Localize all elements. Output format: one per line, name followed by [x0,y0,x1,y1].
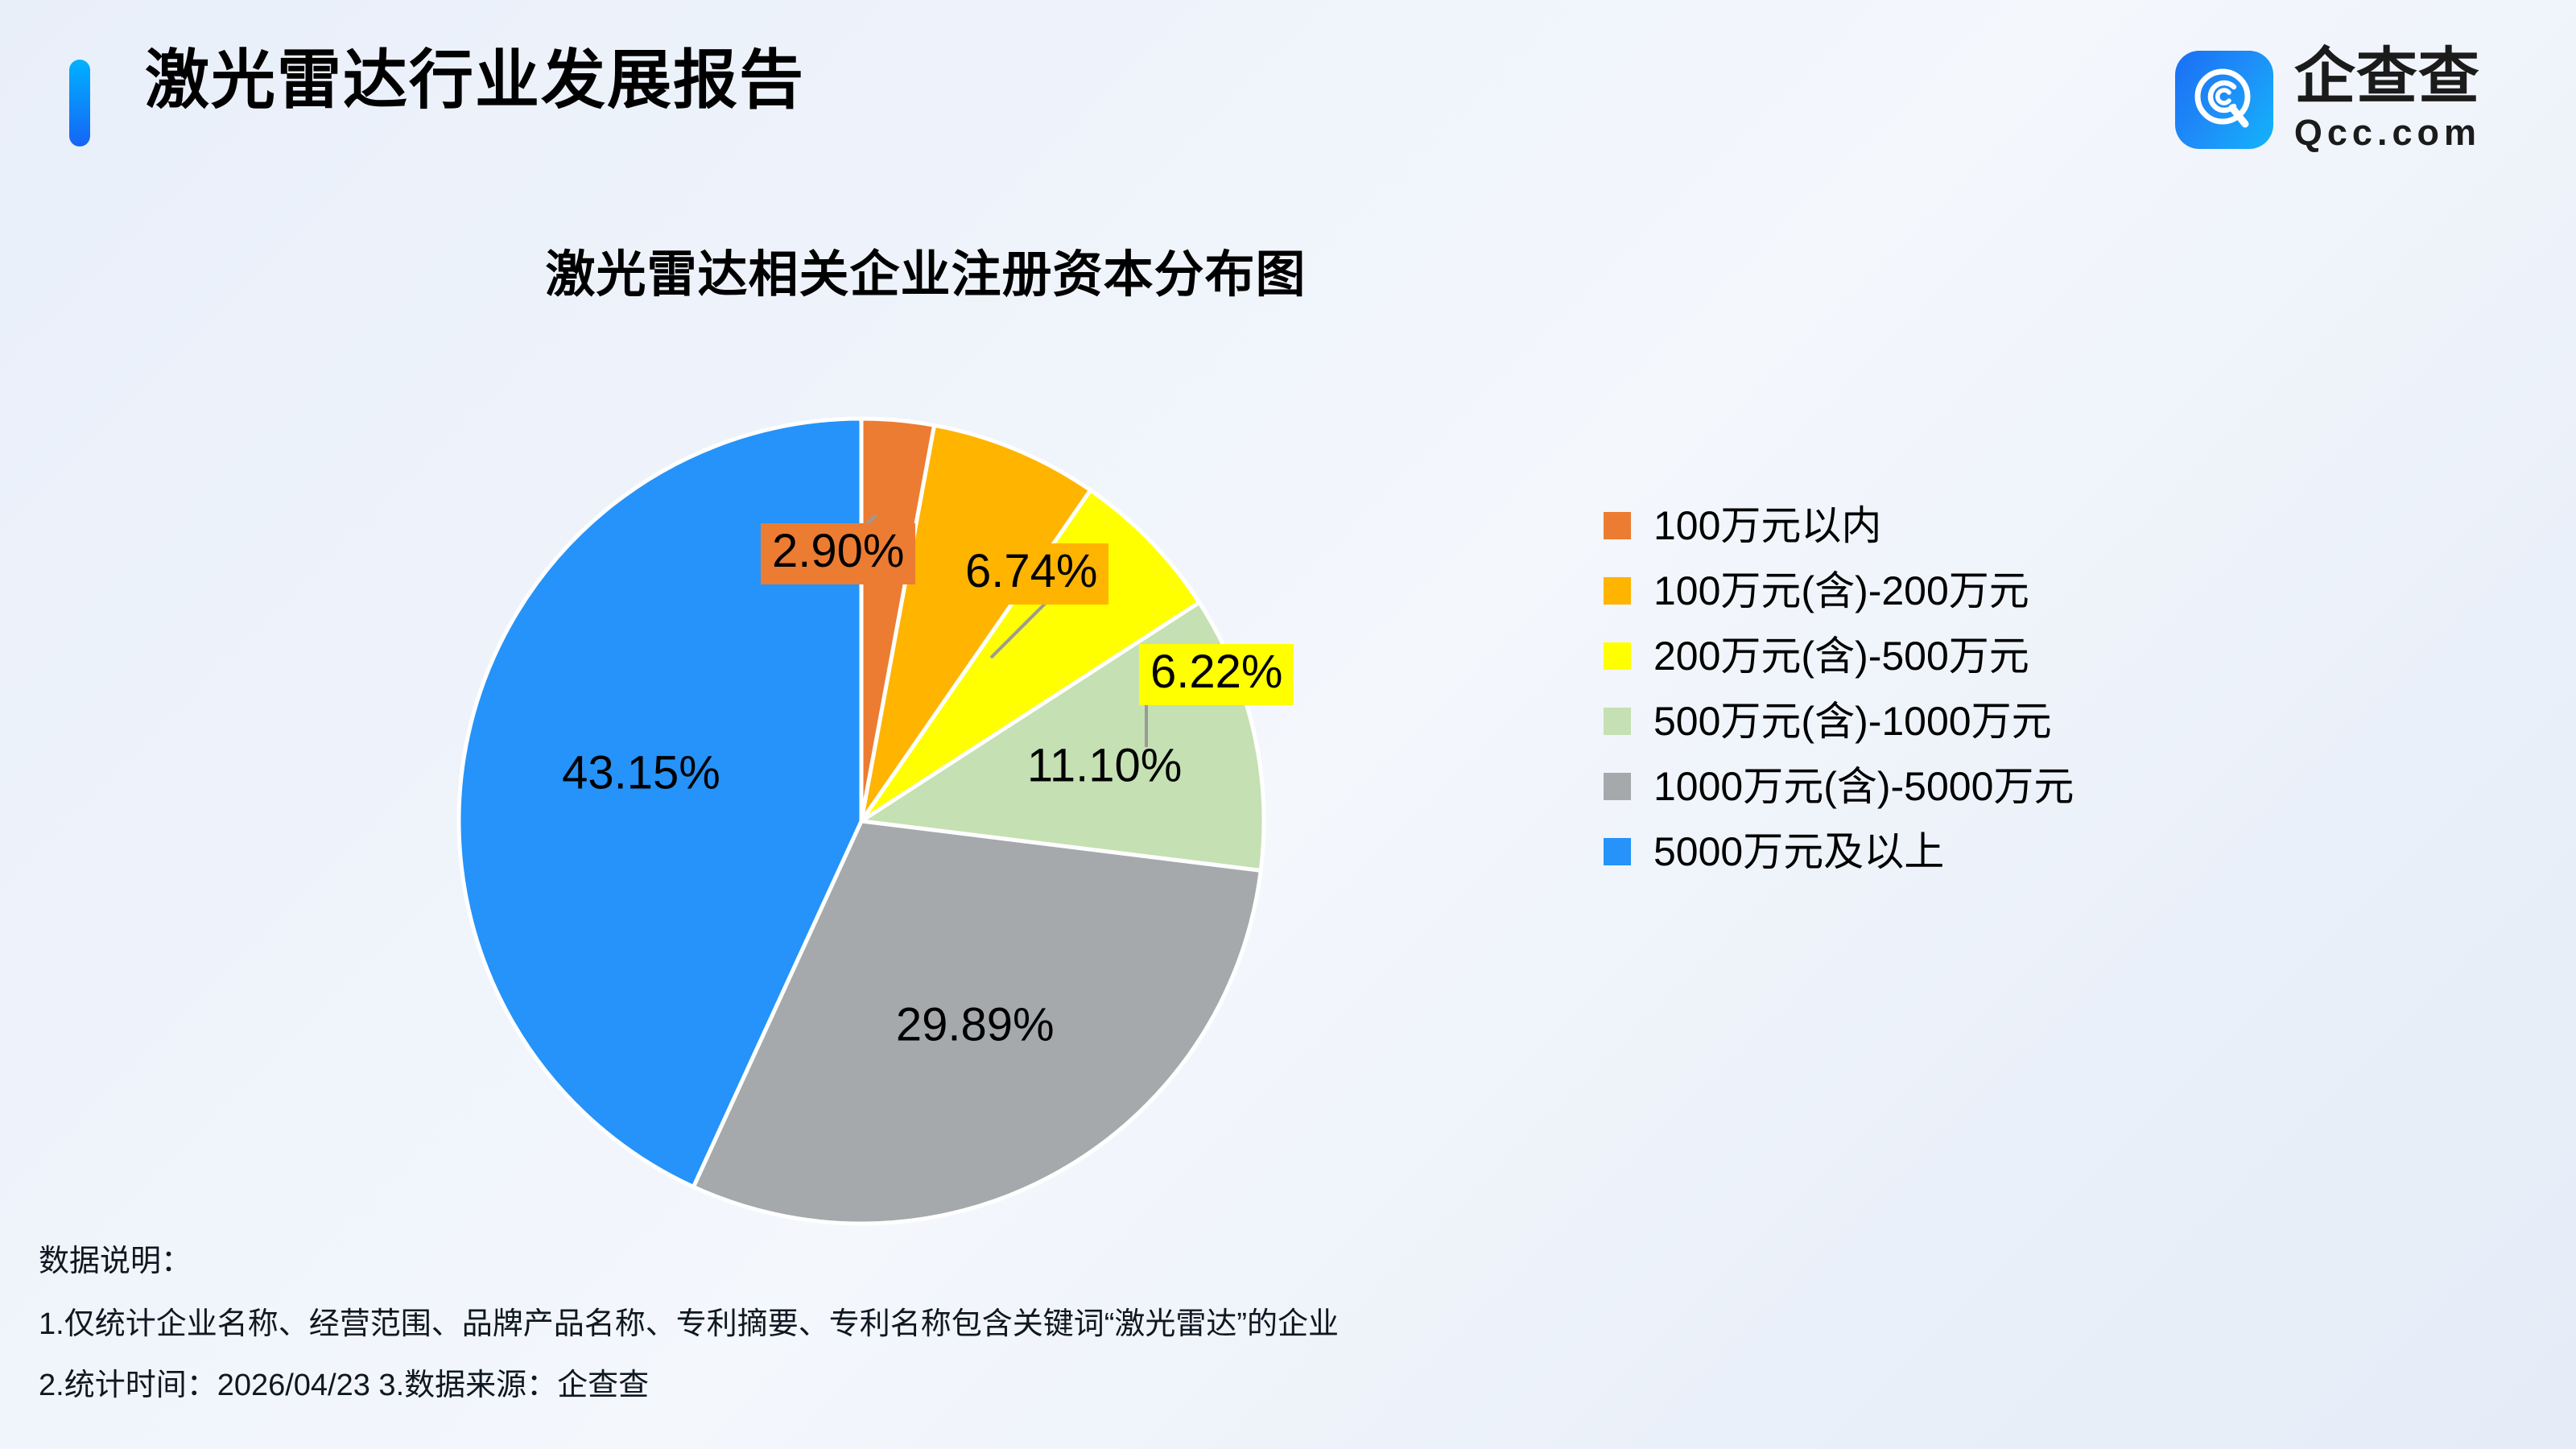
legend-swatch-icon [1604,642,1631,670]
legend-item[interactable]: 100万元以内 [1604,493,2074,558]
title-accent-bar [69,60,90,147]
pie-slice[interactable] [861,419,935,821]
pie-slices [459,419,1264,1224]
pie-slice[interactable] [693,821,1261,1224]
brand-name: 企查查 [2294,47,2480,108]
legend-label: 100万元(含)-200万元 [1653,571,2029,611]
pie-callout-label: 6.74% [954,543,1108,605]
legend-swatch-icon [1604,838,1631,865]
leader-line [991,573,1075,658]
pie-slice[interactable] [861,602,1264,870]
brand-text: 企查查 Qcc.com [2294,47,2481,153]
pie-slice[interactable] [459,419,861,1187]
pie-callout-label: 2.90% [761,523,915,584]
notes-heading: 数据说明： [39,1246,2132,1277]
brand-logo: 企查查 Qcc.com [2175,47,2481,153]
legend-label: 100万元以内 [1653,506,1881,546]
legend-item[interactable]: 200万元(含)-500万元 [1604,623,2074,688]
legend-swatch-icon [1604,512,1631,539]
chart-legend: 100万元以内100万元(含)-200万元200万元(含)-500万元500万元… [1604,493,2074,884]
pie-leader-lines [818,515,1175,747]
pie-svg [386,346,1336,1296]
legend-item[interactable]: 500万元(含)-1000万元 [1604,688,2074,753]
chart-title: 激光雷达相关企业注册资本分布图 [0,233,1851,306]
page-header: 激光雷达行业发展报告 企查查 Qcc.com [0,0,2576,201]
page-title: 激光雷达行业发展报告 [145,42,805,119]
qcc-logo-icon [2175,51,2273,149]
legend-label: 500万元(含)-1000万元 [1653,701,2052,741]
legend-item[interactable]: 5000万元及以上 [1604,819,2074,884]
pie-slice-label: 11.10% [1027,738,1182,792]
legend-label: 1000万元(含)-5000万元 [1653,766,2074,807]
legend-swatch-icon [1604,773,1631,800]
pie-slice-label: 43.15% [562,746,720,800]
pie-chart: 11.10%29.89%43.15%2.90%6.74%6.22% [0,0,2576,1449]
note-line-1: 1.仅统计企业名称、经营范围、品牌产品名称、专利摘要、专利名称包含关键词“激光雷… [39,1309,2132,1340]
pie-callout-label: 6.22% [1139,644,1294,705]
legend-label: 200万元(含)-500万元 [1653,636,2029,676]
pie-slice[interactable] [861,425,1091,821]
pie-slice-label: 29.89% [896,998,1055,1052]
note-line-2: 2.统计时间：2026/04/23 3.数据来源：企查查 [39,1370,2132,1401]
legend-item[interactable]: 1000万元(含)-5000万元 [1604,753,2074,819]
leader-line [1146,694,1175,747]
legend-label: 5000万元及以上 [1653,832,1944,872]
footer-notes: 数据说明： 1.仅统计企业名称、经营范围、品牌产品名称、专利摘要、专利名称包含关… [39,1246,2132,1401]
legend-swatch-icon [1604,708,1631,735]
legend-item[interactable]: 100万元(含)-200万元 [1604,558,2074,623]
brand-domain: Qcc.com [2294,113,2481,153]
leader-line [818,515,876,572]
legend-swatch-icon [1604,577,1631,605]
pie-slice[interactable] [861,490,1199,821]
